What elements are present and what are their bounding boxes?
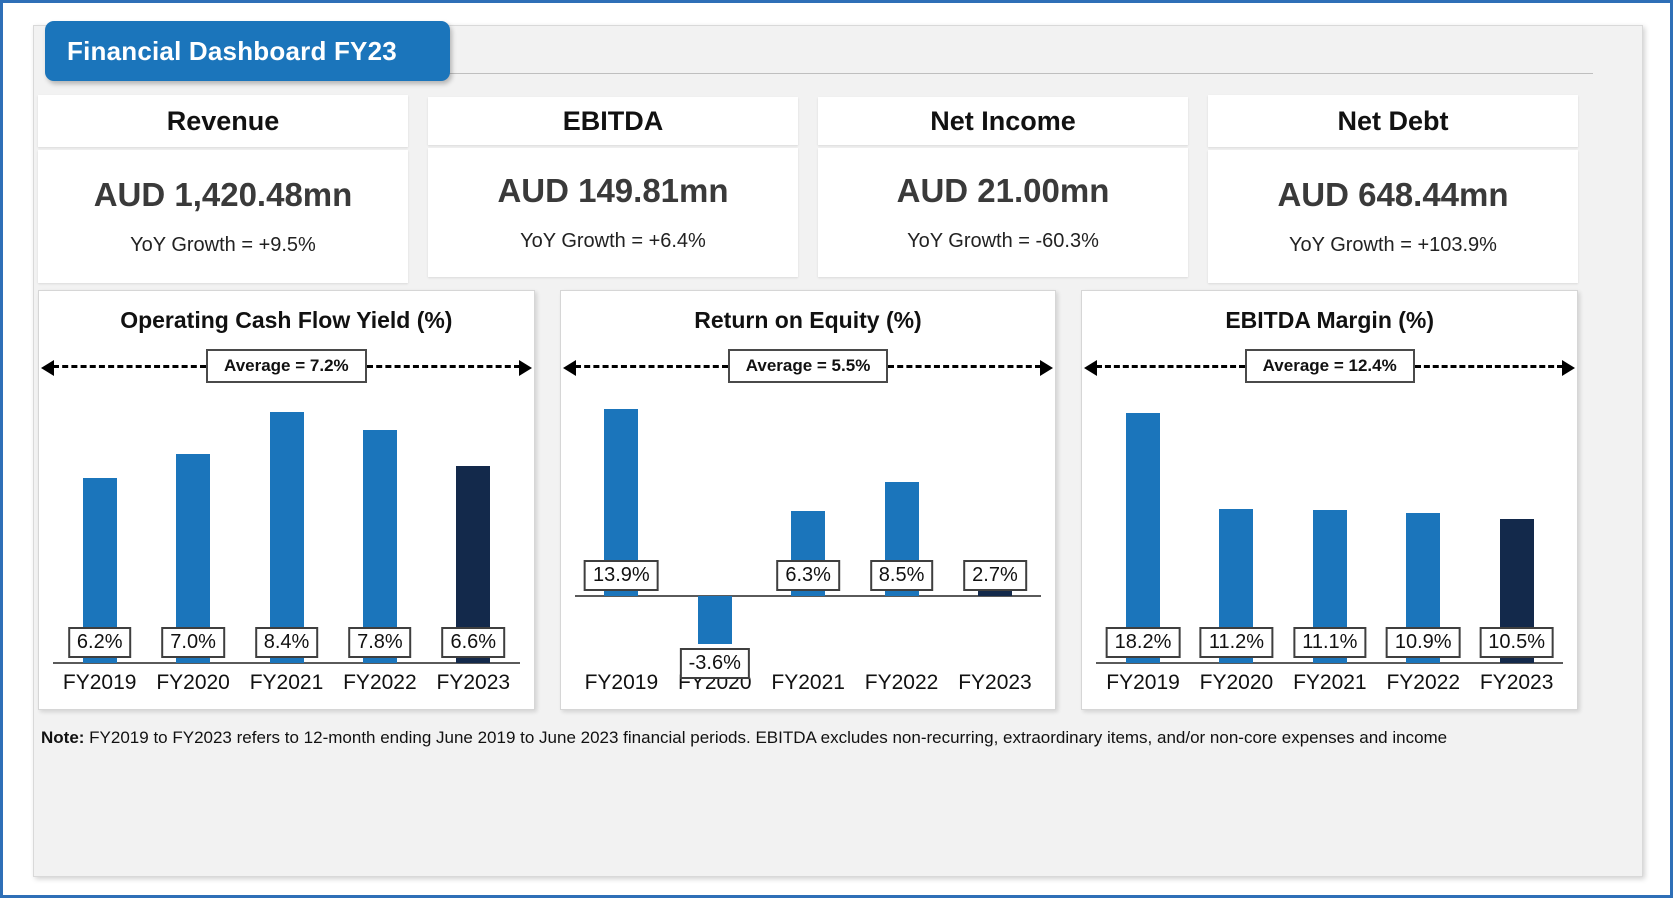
x-axis-label: FY2023 — [958, 671, 1032, 695]
average-band: Average = 12.4% — [1082, 344, 1577, 388]
bar — [1126, 413, 1160, 663]
arrow-left-icon — [41, 360, 54, 376]
x-axis-label: FY2023 — [437, 671, 511, 695]
x-axis: FY2019FY2020FY2021FY2022FY2023 — [53, 663, 520, 709]
kpi-label: Revenue — [38, 95, 408, 147]
average-dash-left — [53, 365, 206, 368]
average-dash-left — [575, 365, 728, 368]
x-axis-label: FY2023 — [1480, 671, 1554, 695]
kpi-body: AUD 21.00mn YoY Growth = -60.3% — [818, 148, 1188, 277]
average-label: Average = 12.4% — [1245, 349, 1415, 383]
kpi-label: Net Debt — [1208, 95, 1578, 147]
plot-area: 18.2%11.2%11.1%10.9%10.5% — [1096, 388, 1563, 663]
bar-value-label: -3.6% — [680, 648, 750, 679]
chart-card-ebitda-margin: EBITDA Margin (%) Average = 12.4% 18.2%1… — [1081, 290, 1578, 710]
kpi-value: AUD 149.81mn — [497, 172, 728, 210]
kpi-card-net-income: Net Income AUD 21.00mn YoY Growth = -60.… — [818, 95, 1188, 283]
chart-title: Return on Equity (%) — [561, 307, 1056, 334]
chart-card-return-on-equity: Return on Equity (%) Average = 5.5% 13.9… — [560, 290, 1057, 710]
bar-value-label: 11.2% — [1200, 627, 1273, 658]
average-dash-right — [888, 365, 1041, 368]
bar-value-label: 10.9% — [1386, 627, 1461, 658]
kpi-value: AUD 1,420.48mn — [94, 176, 353, 214]
x-axis-label: FY2022 — [865, 671, 939, 695]
x-axis-label: FY2019 — [1106, 671, 1180, 695]
chart-title: EBITDA Margin (%) — [1082, 307, 1577, 334]
bar-value-label: 11.1% — [1293, 627, 1366, 658]
kpi-body: AUD 648.44mn YoY Growth = +103.9% — [1208, 150, 1578, 283]
bar-value-label: 8.5% — [870, 560, 934, 591]
kpi-card-revenue: Revenue AUD 1,420.48mn YoY Growth = +9.5… — [38, 95, 408, 283]
x-axis-label: FY2022 — [343, 671, 417, 695]
kpi-card-net-debt: Net Debt AUD 648.44mn YoY Growth = +103.… — [1208, 95, 1578, 283]
average-dash-right — [1415, 365, 1563, 368]
chart-title: Operating Cash Flow Yield (%) — [39, 307, 534, 334]
bar-value-label: 6.3% — [776, 560, 840, 591]
footnote-text: FY2019 to FY2023 refers to 12-month endi… — [84, 728, 1447, 747]
average-band: Average = 5.5% — [561, 344, 1056, 388]
kpi-yoy-growth: YoY Growth = +6.4% — [520, 230, 706, 253]
footnote: Note: FY2019 to FY2023 refers to 12-mont… — [41, 725, 1571, 751]
bar-value-label: 18.2% — [1106, 627, 1181, 658]
x-axis: FY2019FY2020FY2021FY2022FY2023 — [1096, 663, 1563, 709]
kpi-value: AUD 21.00mn — [897, 172, 1110, 210]
bar-value-label: 7.0% — [161, 627, 225, 658]
x-axis-label: FY2020 — [1200, 671, 1274, 695]
average-band: Average = 7.2% — [39, 344, 534, 388]
footnote-prefix: Note: — [41, 728, 84, 747]
average-label: Average = 7.2% — [206, 349, 367, 383]
bar-value-label: 6.6% — [442, 627, 506, 658]
bar-value-label: 2.7% — [963, 560, 1027, 591]
kpi-yoy-growth: YoY Growth = +9.5% — [130, 234, 316, 257]
x-axis-label: FY2021 — [250, 671, 324, 695]
x-axis-label: FY2022 — [1386, 671, 1460, 695]
average-label: Average = 5.5% — [728, 349, 889, 383]
x-axis-label: FY2019 — [585, 671, 659, 695]
chart-row: Operating Cash Flow Yield (%) Average = … — [38, 290, 1578, 710]
kpi-value: AUD 648.44mn — [1277, 176, 1508, 214]
kpi-card-ebitda: EBITDA AUD 149.81mn YoY Growth = +6.4% — [428, 95, 798, 283]
average-dash-right — [367, 365, 520, 368]
bar-value-label: 7.8% — [348, 627, 412, 658]
x-axis-label: FY2019 — [63, 671, 137, 695]
x-axis: FY2019FY2020FY2021FY2022FY2023 — [575, 663, 1042, 709]
kpi-label: Net Income — [818, 97, 1188, 145]
plot-area: 13.9%-3.6%6.3%8.5%2.7% — [575, 388, 1042, 663]
kpi-yoy-growth: YoY Growth = -60.3% — [907, 230, 1099, 253]
chart-card-operating-cash-flow-yield: Operating Cash Flow Yield (%) Average = … — [38, 290, 535, 710]
kpi-yoy-growth: YoY Growth = +103.9% — [1289, 234, 1497, 257]
bar — [698, 596, 732, 644]
dashboard-title-tab: Financial Dashboard FY23 — [45, 21, 450, 81]
kpi-body: AUD 149.81mn YoY Growth = +6.4% — [428, 148, 798, 277]
x-axis-label: FY2021 — [771, 671, 845, 695]
bar-value-label: 8.4% — [255, 627, 319, 658]
x-axis-label: FY2020 — [156, 671, 230, 695]
bar-value-label: 6.2% — [68, 627, 132, 658]
arrow-right-icon — [1562, 360, 1575, 376]
bar-value-label: 13.9% — [584, 560, 659, 591]
arrow-left-icon — [563, 360, 576, 376]
dashboard-page: Financial Dashboard FY23 Revenue AUD 1,4… — [0, 0, 1673, 898]
average-dash-left — [1096, 365, 1244, 368]
kpi-label: EBITDA — [428, 97, 798, 145]
kpi-row: Revenue AUD 1,420.48mn YoY Growth = +9.5… — [38, 95, 1578, 283]
bar — [270, 412, 304, 663]
page-title: Financial Dashboard FY23 — [45, 36, 397, 67]
arrow-right-icon — [1040, 360, 1053, 376]
bar-value-label: 10.5% — [1479, 627, 1554, 658]
arrow-right-icon — [519, 360, 532, 376]
x-axis-label: FY2021 — [1293, 671, 1367, 695]
arrow-left-icon — [1084, 360, 1097, 376]
kpi-body: AUD 1,420.48mn YoY Growth = +9.5% — [38, 150, 408, 283]
plot-area: 6.2%7.0%8.4%7.8%6.6% — [53, 388, 520, 663]
title-rule — [403, 73, 1593, 74]
